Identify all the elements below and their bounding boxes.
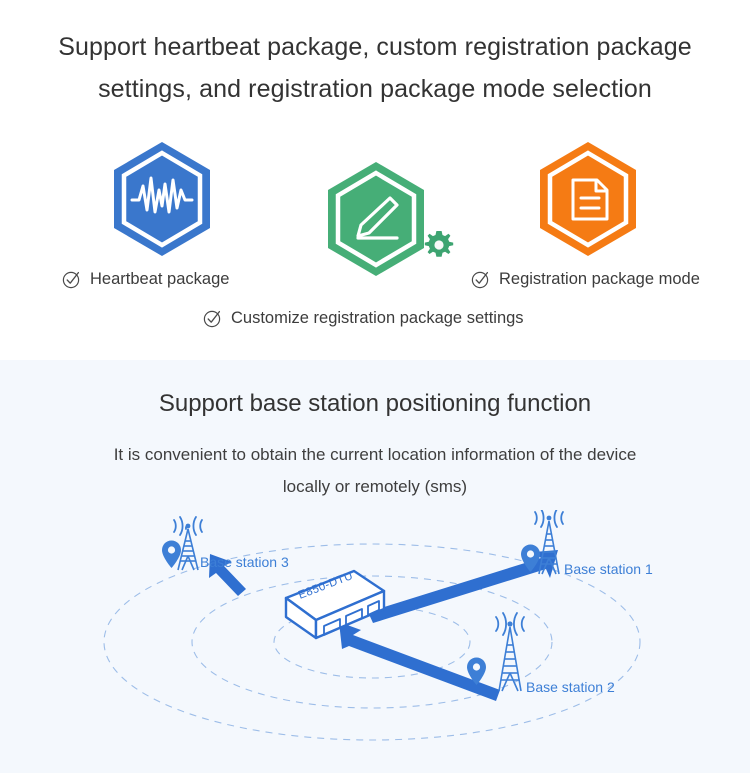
features-heading-line-1: Support heartbeat package, custom regist… [0,26,750,68]
feature-label-text: Customize registration package settings [231,309,524,328]
gear-icon [422,228,456,262]
base-station-2: Base station 2 [467,613,615,695]
features-heading: Support heartbeat package, custom regist… [0,26,750,110]
heartbeat-hexagon-shape [110,140,214,258]
document-hexagon-shape [536,140,640,258]
positioning-title: Support base station positioning functio… [0,390,750,418]
feature-label-customize-registration-settings: Customize registration package settings [203,309,524,328]
base-station-1: Base station 1 [521,510,653,577]
base-station-2-label: Base station 2 [526,679,615,695]
feature-icon-row [0,140,750,265]
features-section: Support heartbeat package, custom regist… [0,0,750,360]
check-circle-icon [471,270,490,289]
positioning-subtitle: It is convenient to obtain the current l… [0,439,750,503]
tower-icon [499,627,521,691]
features-heading-line-2: settings, and registration package mode … [0,68,750,110]
base-station-positioning-diagram: E850-DTU [0,510,750,760]
location-pin-icon [162,541,181,569]
base-station-3-label: Base station 3 [200,554,289,570]
settings-hexagon-shape [324,160,428,278]
feature-label-heartbeat-package: Heartbeat package [62,270,229,289]
positioning-section: Support base station positioning functio… [0,360,750,773]
heartbeat-hexagon [110,140,214,258]
check-circle-icon [203,309,222,328]
tower-icon [178,529,198,570]
check-circle-icon [62,270,81,289]
base-station-1-label: Base station 1 [564,561,653,577]
positioning-subtitle-line-1: It is convenient to obtain the current l… [0,439,750,471]
settings-hexagon [324,160,428,278]
feature-label-text: Heartbeat package [90,270,229,289]
feature-label-registration-package-mode: Registration package mode [471,270,700,289]
feature-label-text: Registration package mode [499,270,700,289]
device-e850-dtu: E850-DTU [286,570,384,638]
positioning-subtitle-line-2: locally or remotely (sms) [0,471,750,503]
base-station-3: Base station 3 [162,517,289,570]
document-hexagon [536,140,640,258]
